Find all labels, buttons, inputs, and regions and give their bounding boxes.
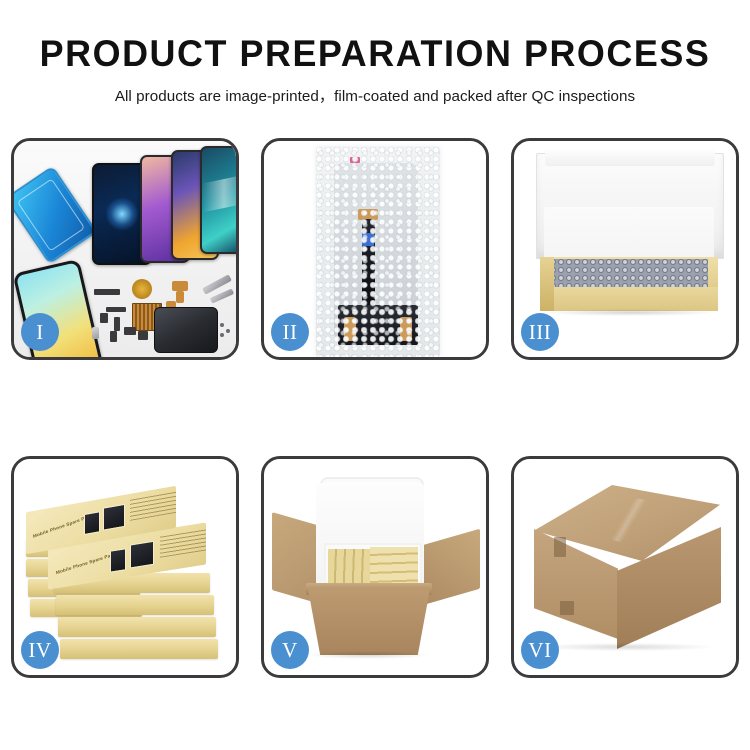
step-badge-4: IV (21, 631, 59, 669)
step-badge-5: V (271, 631, 309, 669)
step-badge-3: III (521, 313, 559, 351)
bubble-wrap-bag-icon (316, 147, 440, 357)
step-badge-2: II (271, 313, 309, 351)
process-step-grid: I II (11, 138, 739, 678)
process-step-panel-3[interactable]: III (511, 138, 739, 360)
process-step-panel-5[interactable]: V (261, 456, 489, 678)
process-step-panel-6[interactable]: VI (511, 456, 739, 678)
gold-box-front-icon (540, 287, 718, 311)
step-badge-6: VI (521, 631, 559, 669)
page-subtitle: All products are image-printed，film-coat… (0, 84, 750, 106)
carton-tape-bottom-icon (560, 601, 574, 615)
gold-boxes-row-2-icon (370, 547, 418, 587)
page-title: PRODUCT PREPARATION PROCESS (11, 34, 739, 75)
carton-tape-top-icon (554, 537, 566, 557)
page-header: PRODUCT PREPARATION PROCESS All products… (0, 0, 750, 106)
gold-box-side-icon (540, 257, 554, 311)
box-label-text-2: Mobile Phone Spare Parts (56, 551, 118, 575)
process-step-panel-1[interactable]: I (11, 138, 239, 360)
process-step-panel-4[interactable]: Mobile Phone Spare Parts Mobile Phone Sp… (11, 456, 239, 678)
carton-body-icon (308, 589, 430, 655)
step-badge-1: I (21, 313, 59, 351)
teal-phone-screen-icon (200, 146, 236, 254)
process-step-panel-2[interactable]: II (261, 138, 489, 360)
white-foam-sheet-icon (544, 207, 714, 263)
